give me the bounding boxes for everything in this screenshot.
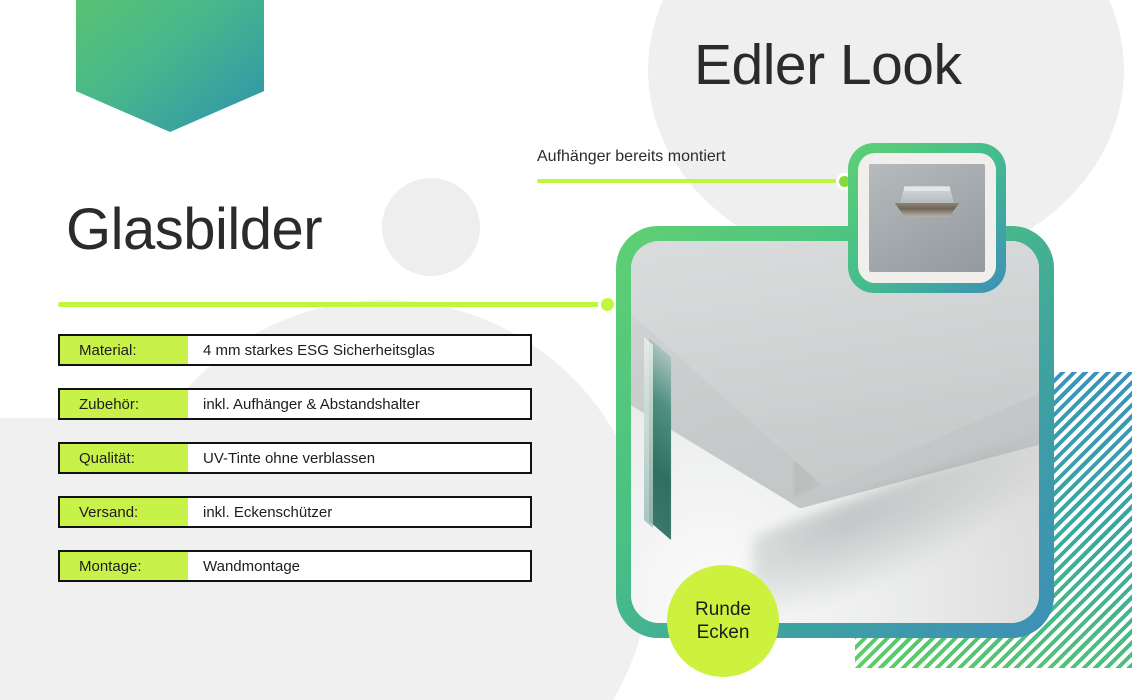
status-badge-runde-ecken: Runde Ecken (667, 565, 779, 677)
badge-line-2: Ecken (697, 621, 750, 644)
table-row: Versand: inkl. Eckenschützer (58, 496, 532, 528)
infographic-canvas: Glasbilder Material: 4 mm starkes ESG Si… (0, 0, 1132, 700)
badge-line-1: Runde (695, 598, 751, 621)
inset-photo-mat (858, 153, 996, 283)
spec-label: Qualität: (60, 444, 188, 472)
section-heading: Edler Look (694, 32, 962, 98)
background-circle-title (382, 178, 480, 276)
callout-line (537, 179, 845, 183)
callout-text: Aufhänger bereits montiert (537, 148, 855, 166)
main-product-photo (631, 241, 1039, 623)
callout-annotation: Aufhänger bereits montiert (537, 148, 855, 189)
divider-line (58, 302, 610, 307)
spec-value: 4 mm starkes ESG Sicherheitsglas (188, 336, 530, 364)
page-title: Glasbilder (66, 196, 322, 263)
title-divider (58, 296, 618, 312)
spec-label: Versand: (60, 498, 188, 526)
shield-banner-logo-icon (76, 0, 264, 132)
spec-value: inkl. Eckenschützer (188, 498, 530, 526)
spec-value: inkl. Aufhänger & Abstandshalter (188, 390, 530, 418)
table-row: Zubehör: inkl. Aufhänger & Abstandshalte… (58, 388, 532, 420)
spec-label: Montage: (60, 552, 188, 580)
spec-label: Zubehör: (60, 390, 188, 418)
spec-list: Material: 4 mm starkes ESG Sicherheitsgl… (58, 334, 532, 604)
table-row: Qualität: UV-Tinte ohne verblassen (58, 442, 532, 474)
hanger-photo (869, 164, 985, 272)
spec-value: Wandmontage (188, 552, 530, 580)
hanger-bracket-lip (895, 203, 960, 217)
spec-label: Material: (60, 336, 188, 364)
spec-value: UV-Tinte ohne verblassen (188, 444, 530, 472)
table-row: Material: 4 mm starkes ESG Sicherheitsgl… (58, 334, 532, 366)
glass-edge-highlight (644, 337, 653, 528)
table-row: Montage: Wandmontage (58, 550, 532, 582)
hanger-highlight (904, 187, 950, 191)
inset-photo-frame (848, 143, 1006, 293)
callout-leader (537, 173, 855, 189)
connector-dot-icon (598, 295, 617, 314)
